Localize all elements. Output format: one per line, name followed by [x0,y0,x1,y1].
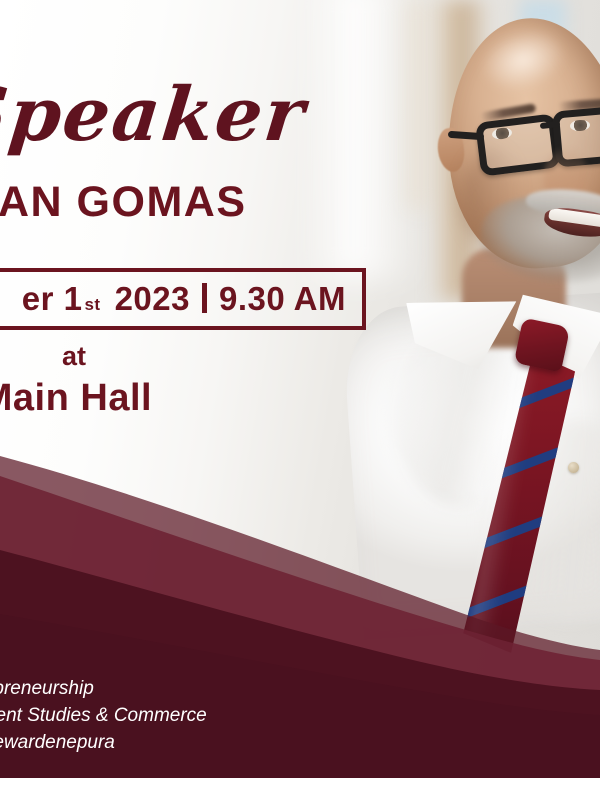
date-time-text: er 1st 2023 9.30 AM [22,280,346,318]
at-label: at [62,341,86,372]
speaker-portrait [330,0,600,620]
bottom-white-edge [0,778,600,800]
event-time: 9.30 AM [219,280,346,318]
date-day: er 1 [22,280,83,318]
speaker-announcement-flyer: Speaker DIAN GOMAS er 1st 2023 9.30 AM a… [0,0,600,800]
organizer-line-3: agement Studies & Commerce [0,702,207,729]
organizer-line-1: y [0,648,207,675]
organizer-block: y Entrepreneurship agement Studies & Com… [0,648,207,756]
venue-name: F Main Hall [0,377,152,420]
organizer-line-2: Entrepreneurship [0,675,207,702]
eyebrow-speaker-script: Speaker [0,72,310,158]
date-time-box: er 1st 2023 9.30 AM [0,268,366,330]
date-year: 2023 [115,280,190,318]
date-time-divider [202,283,207,313]
necktie-knot [514,318,571,373]
organizer-line-4: ri Jayewardenepura [0,729,207,756]
date-ordinal-suffix: st [84,295,100,315]
speaker-name: DIAN GOMAS [0,178,247,227]
shirt-button [568,462,579,473]
